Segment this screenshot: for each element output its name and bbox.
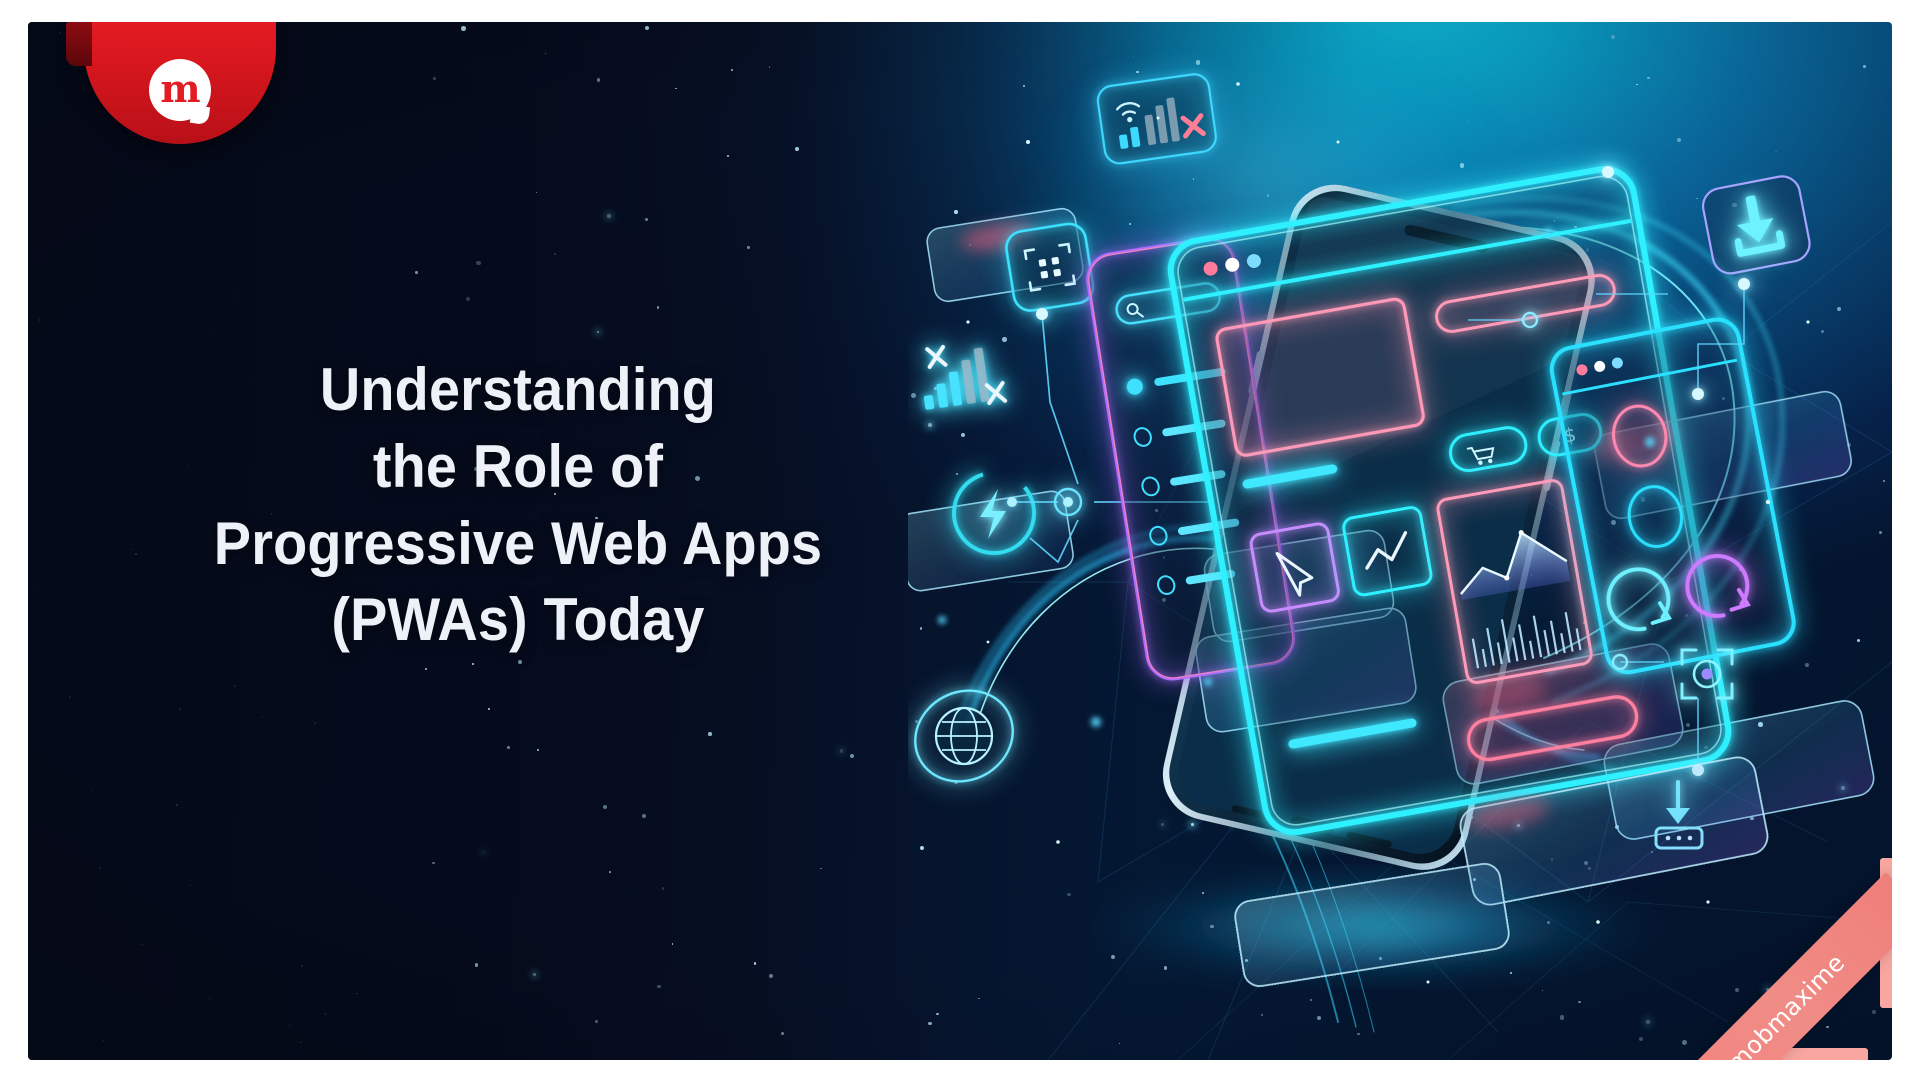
title-line-1: Understanding bbox=[127, 352, 908, 429]
ribbon-band: mobmaxime bbox=[1664, 872, 1892, 1060]
logo-tab-fold bbox=[66, 22, 92, 66]
brand-logo-tab[interactable]: m bbox=[84, 22, 276, 144]
title-line-3: Progressive Web Apps bbox=[127, 506, 908, 583]
page-title: Understanding the Role of Progressive We… bbox=[98, 352, 938, 659]
title-line-2: the Role of bbox=[127, 429, 908, 506]
title-line-4: (PWAs) Today bbox=[127, 582, 908, 659]
artwork-card: m Understanding the Role of Progressive … bbox=[28, 22, 1892, 1060]
ribbon-label: mobmaxime bbox=[1722, 949, 1851, 1060]
banner-root: m Understanding the Role of Progressive … bbox=[0, 0, 1920, 1080]
mobmaxime-m-logo-icon: m bbox=[149, 59, 211, 121]
corner-ribbon[interactable]: mobmaxime bbox=[1664, 832, 1892, 1060]
logo-letter: m bbox=[160, 70, 199, 108]
